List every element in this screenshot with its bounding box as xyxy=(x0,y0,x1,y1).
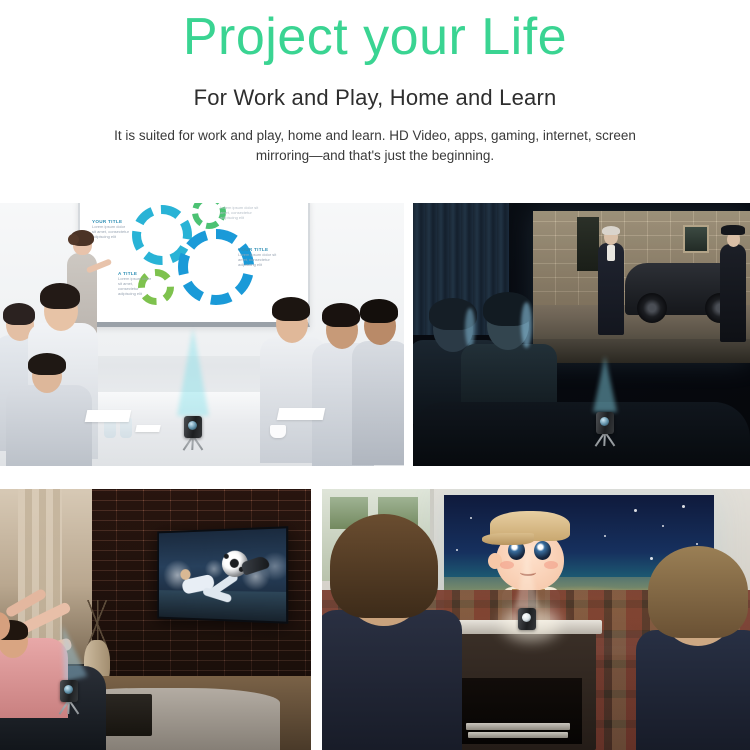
page-subtitle: For Work and Play, Home and Learn xyxy=(0,84,750,112)
movie-woman-hat xyxy=(721,225,745,235)
star xyxy=(470,517,472,519)
slide-label-right: YOUR TITLE Lorem ipsum dolor sit amet, c… xyxy=(238,247,286,267)
viewer-rim-light xyxy=(521,302,532,348)
boy-cap-brim xyxy=(482,533,534,545)
child-hair xyxy=(330,514,438,618)
child-body xyxy=(636,630,750,750)
projection-light-beam xyxy=(515,552,539,608)
boy-blush xyxy=(544,561,558,569)
star xyxy=(604,535,606,537)
projected-sports-scene xyxy=(157,526,288,624)
product-feature-page: Project your Life For Work and Play, Hom… xyxy=(0,0,750,750)
attendee-hair xyxy=(40,283,80,309)
projected-movie-scene xyxy=(533,211,750,363)
sports-fan-behind xyxy=(0,598,52,658)
stored-device xyxy=(466,723,570,730)
attendee-body xyxy=(352,341,404,465)
document-right xyxy=(277,408,326,420)
projection-light-beam xyxy=(593,356,617,412)
projector-body xyxy=(184,416,202,438)
slide-body-right: Lorem ipsum dolor sit amet, consectetur … xyxy=(238,252,286,267)
movie-shirt xyxy=(607,245,615,261)
projector-lens xyxy=(600,417,609,426)
movie-window xyxy=(683,225,709,253)
slide-body-top: Lorem ipsum dolor sit amet, consectetur … xyxy=(220,205,260,220)
presenter-hair-bun xyxy=(68,234,79,245)
ball-patch xyxy=(224,554,229,559)
movie-woman-coat xyxy=(720,244,746,342)
slide-label-bottom: A TITLE Lorem ipsum dolor sit amet, cons… xyxy=(118,271,152,296)
document-center xyxy=(135,425,160,432)
stored-device xyxy=(468,732,568,738)
star xyxy=(696,543,698,545)
page-description: It is suited for work and play, home and… xyxy=(90,126,660,166)
slide-body-bottom: Lorem ipsum dolor sit amet, consectetur … xyxy=(118,276,152,296)
media-cabinet xyxy=(444,632,596,750)
page-title: Project your Life xyxy=(0,6,750,68)
projector-lens xyxy=(188,421,197,430)
mini-projector-device xyxy=(184,416,202,442)
document-left xyxy=(85,410,132,422)
attendee-hair xyxy=(360,299,398,323)
mini-projector-device xyxy=(596,412,614,438)
movie-man-hair xyxy=(602,226,620,235)
attendee-body xyxy=(6,385,92,466)
projection-light-beam xyxy=(177,328,209,416)
projector-body xyxy=(518,608,536,630)
gallery-image-business-meeting[interactable]: YOUR TITLE Lorem ipsum dolor sit amet, c… xyxy=(0,203,404,466)
image-gallery: YOUR TITLE Lorem ipsum dolor sit amet, c… xyxy=(0,203,750,750)
child-left xyxy=(322,512,462,750)
gallery-image-home-theater[interactable] xyxy=(413,203,750,466)
star xyxy=(682,505,685,508)
projector-lens xyxy=(522,613,531,622)
projector-body xyxy=(60,680,78,702)
projector-body xyxy=(596,412,614,434)
movie-character-man xyxy=(595,229,627,349)
child-right xyxy=(636,546,750,750)
child-body xyxy=(322,610,462,750)
coffee-mug xyxy=(270,425,286,438)
boy-blush xyxy=(500,561,514,569)
gallery-image-sports-night[interactable] xyxy=(0,489,311,750)
projector-lens xyxy=(64,685,73,694)
theater-sofa xyxy=(413,402,750,466)
movie-car-wheel xyxy=(637,293,667,323)
player-head xyxy=(180,569,190,580)
header: Project your Life For Work and Play, Hom… xyxy=(0,0,750,166)
child-hair xyxy=(648,546,748,638)
attendee-hair xyxy=(28,353,66,375)
gallery-image-kids-animation[interactable] xyxy=(322,489,750,750)
gear-graphic-blue xyxy=(178,229,254,305)
cabinet-shelf-opening xyxy=(458,678,582,744)
star xyxy=(662,525,664,527)
mini-projector-device xyxy=(60,680,78,706)
attendee-right-3 xyxy=(352,299,404,461)
mini-projector-device xyxy=(518,608,536,634)
ball-patch xyxy=(230,559,239,568)
star xyxy=(634,509,637,512)
soccer-player xyxy=(179,565,246,612)
movie-character-woman xyxy=(718,225,748,349)
attendee-left-3 xyxy=(6,355,92,466)
attendee-hair xyxy=(272,297,310,321)
